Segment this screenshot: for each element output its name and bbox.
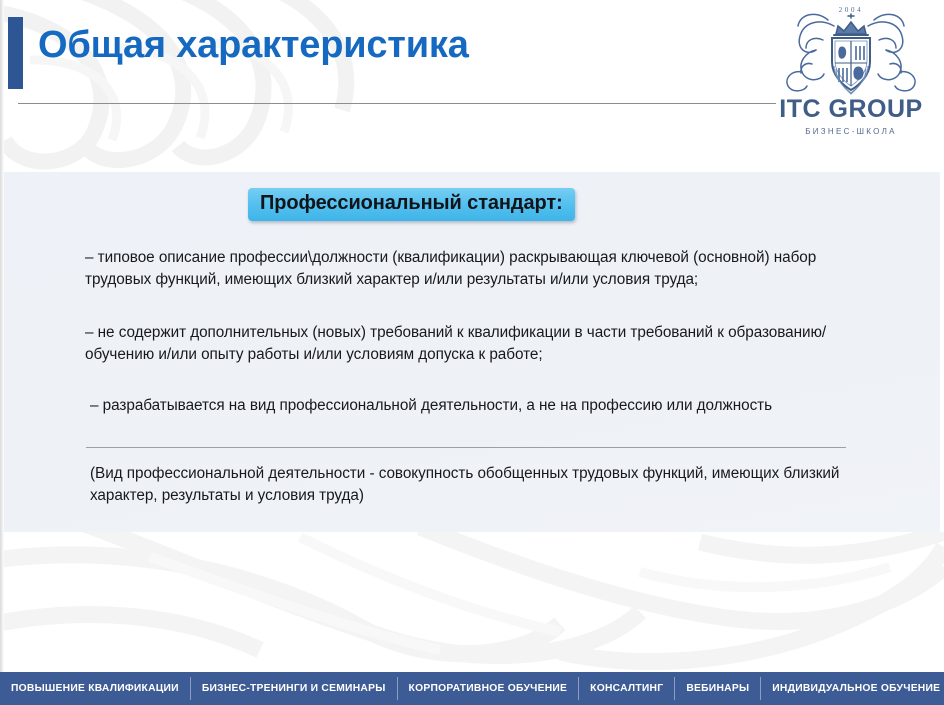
section-heading-chip: Профессиональный стандарт: — [248, 188, 575, 221]
page-title: Общая характеристика — [38, 24, 469, 67]
bottom-navigation-bar: ПОВЫШЕНИЕ КВАЛИФИКАЦИИ БИЗНЕС-ТРЕНИНГИ И… — [0, 672, 944, 705]
heraldic-crest-icon: 2004 — [776, 4, 926, 96]
content-paragraph-4: (Вид профессиональной деятельности - сов… — [90, 463, 850, 506]
title-divider — [18, 103, 776, 104]
nav-item-vebinary[interactable]: ВЕБИНАРЫ — [675, 672, 760, 705]
crest-year-label: 2004 — [776, 6, 926, 14]
content-paragraph-3: – разрабатывается на вид профессионально… — [90, 395, 870, 417]
section-heading-label: Профессиональный стандарт: — [260, 192, 563, 214]
nav-item-korporativnoe-obuchenie[interactable]: КОРПОРАТИВНОЕ ОБУЧЕНИЕ — [398, 672, 579, 705]
brand-name: ITC GROUP — [776, 97, 926, 122]
brand-subtitle: БИЗНЕС-ШКОЛА — [776, 127, 926, 136]
content-paragraph-1: – типовое описание профессии\должности (… — [85, 247, 885, 290]
presentation-slide: Общая характеристика 2004 — [0, 0, 944, 705]
nav-item-povyshenie-kvalifikacii[interactable]: ПОВЫШЕНИЕ КВАЛИФИКАЦИИ — [0, 672, 190, 705]
brand-logo: 2004 — [776, 4, 926, 136]
nav-item-biznes-treningi[interactable]: БИЗНЕС-ТРЕНИНГИ И СЕМИНАРЫ — [191, 672, 397, 705]
crest-svg — [776, 4, 926, 96]
nav-item-konsalting[interactable]: КОНСАЛТИНГ — [579, 672, 674, 705]
nav-item-individualnoe-obuchenie[interactable]: ИНДИВИДУАЛЬНОЕ ОБУЧЕНИЕ — [761, 672, 944, 705]
content-paragraph-2: – не содержит дополнительных (новых) тре… — [85, 322, 875, 365]
ornament-watermark-bottom — [0, 532, 944, 672]
title-accent-bar — [8, 17, 23, 89]
content-inner-divider — [86, 447, 846, 448]
